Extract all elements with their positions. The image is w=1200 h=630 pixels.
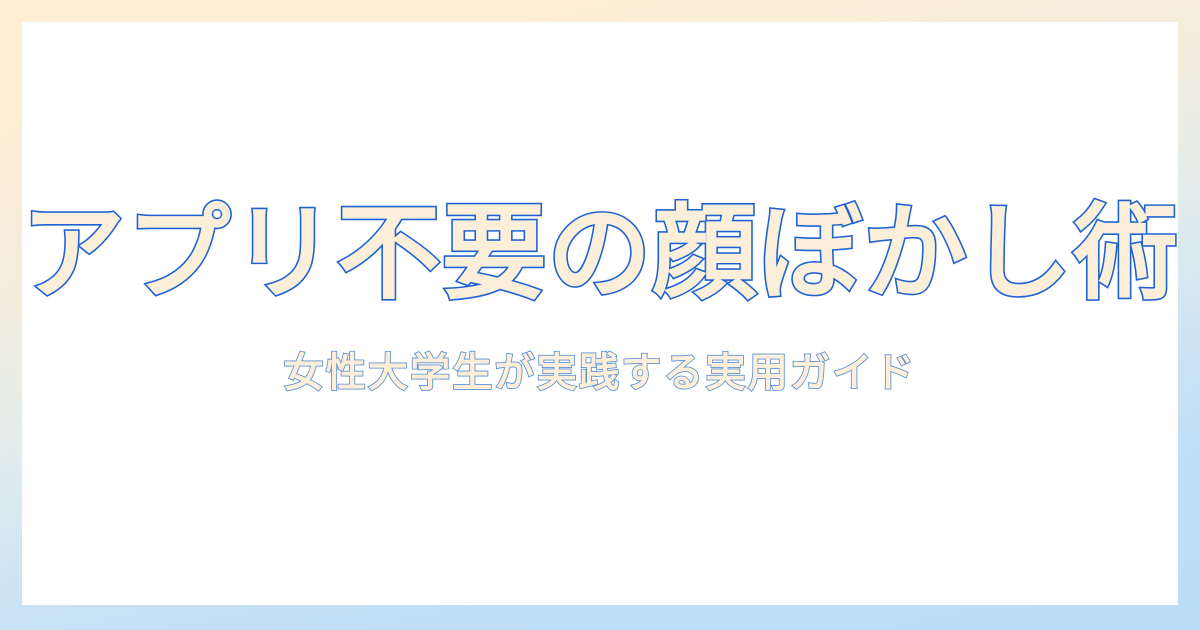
banner-card: アプリ不要の顔ぼかし術 女性大学生が実践する実用ガイド (22, 22, 1178, 605)
banner-canvas: アプリ不要の顔ぼかし術 女性大学生が実践する実用ガイド (0, 0, 1200, 630)
banner-text-block: アプリ不要の顔ぼかし術 女性大学生が実践する実用ガイド (22, 22, 1178, 605)
banner-subtitle: 女性大学生が実践する実用ガイド (284, 349, 917, 397)
banner-title: アプリ不要の顔ぼかし術 (21, 198, 1179, 308)
